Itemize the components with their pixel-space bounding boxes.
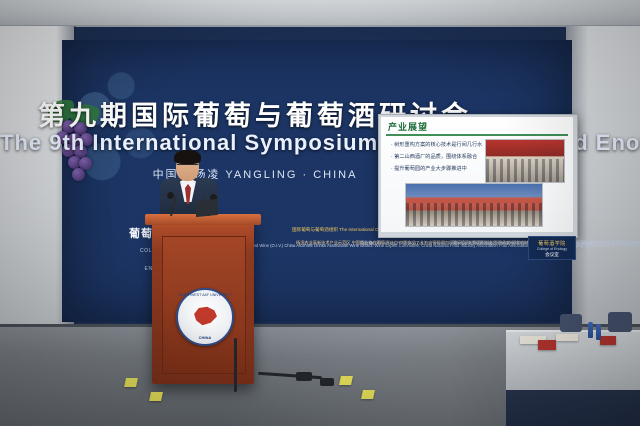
conference-photo: 第九期国际葡萄与葡萄酒研讨会 The 9th International Sym… [0, 0, 640, 426]
image-vignette [0, 0, 640, 426]
